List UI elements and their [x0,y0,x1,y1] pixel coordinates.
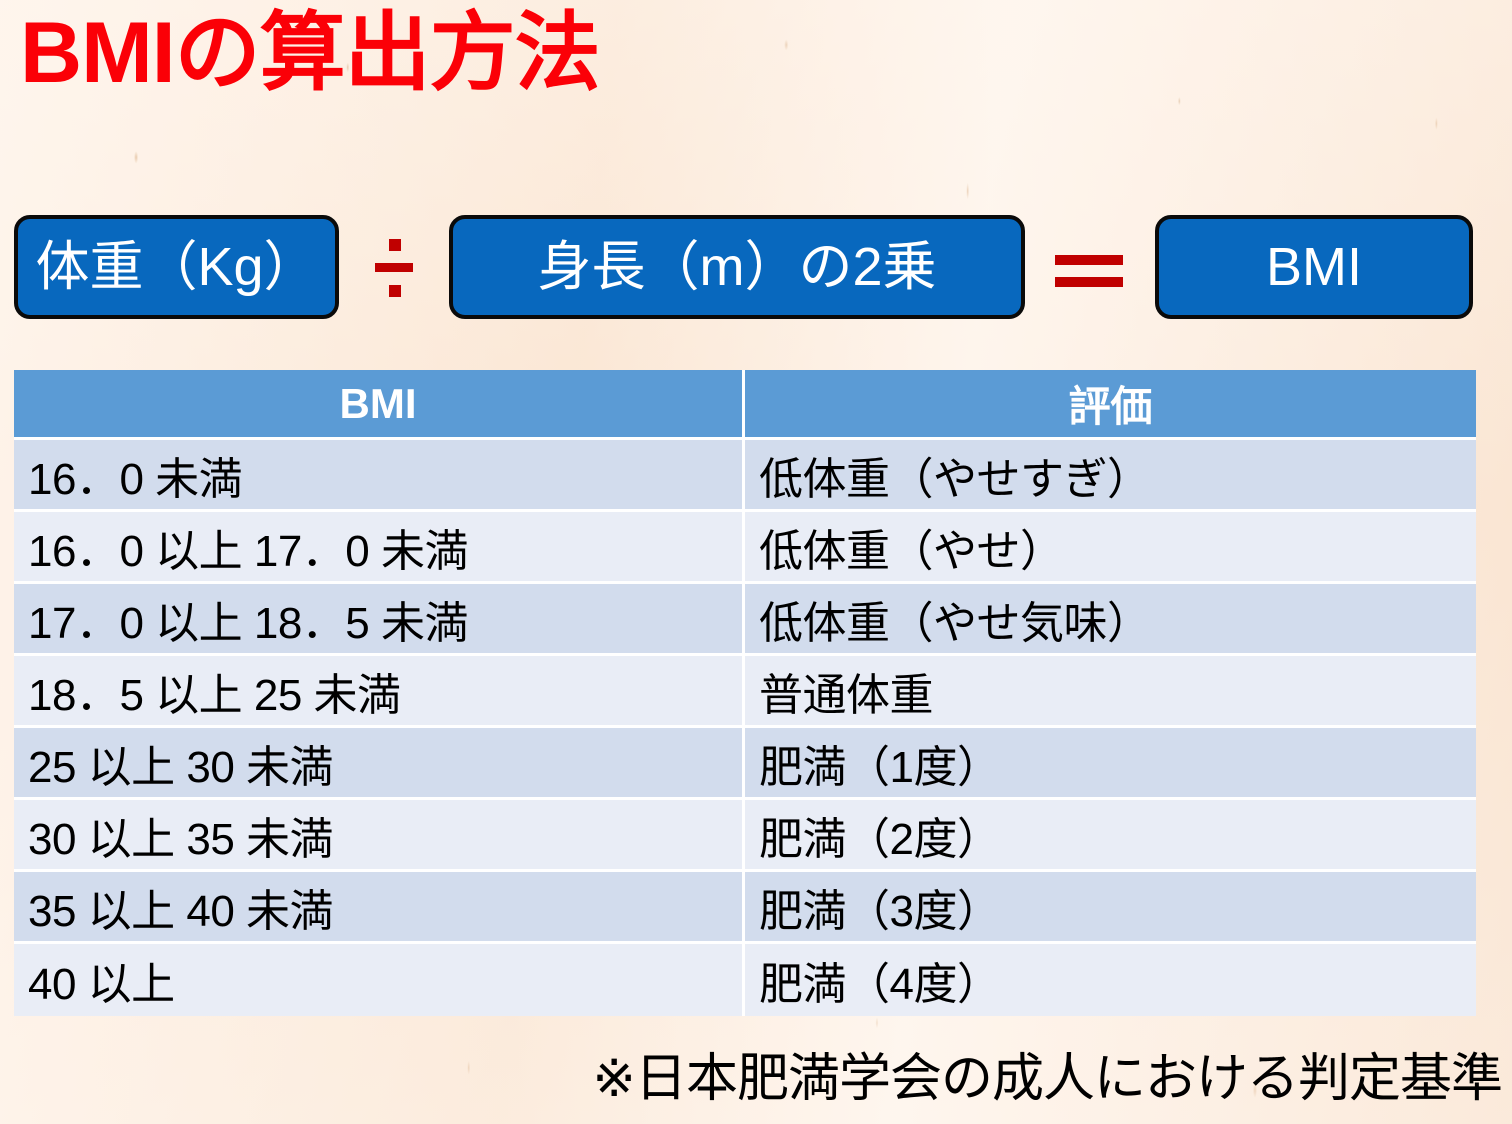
source-footnote: ※日本肥満学会の成人における判定基準 [592,1036,1502,1111]
cell-evaluation: 肥満（1度） [745,728,1476,800]
table-row: 30 以上 35 未満 肥満（2度） [14,800,1476,872]
bmi-classification-table: BMI 評価 16．0 未満 低体重（やせすぎ） 16．0 以上 17．0 未満… [14,370,1476,1016]
cell-bmi-range: 30 以上 35 未満 [14,800,745,872]
equals-operator-icon [1025,215,1155,319]
cell-evaluation: 肥満（4度） [745,944,1476,1016]
table-row: 16．0 以上 17．0 未満 低体重（やせ） [14,512,1476,584]
column-header-bmi: BMI [14,370,745,440]
cell-evaluation: 普通体重 [745,656,1476,728]
table-row: 35 以上 40 未満 肥満（3度） [14,872,1476,944]
table-row: 16．0 未満 低体重（やせすぎ） [14,440,1476,512]
bmi-formula: 体重（Kg） 身長（m）の2乗 BMI [14,211,1484,323]
cell-evaluation: 低体重（やせ） [745,512,1476,584]
cell-bmi-range: 16．0 未満 [14,440,745,512]
formula-weight-box: 体重（Kg） [14,215,339,319]
table-row: 17．0 以上 18．5 未満 低体重（やせ気味） [14,584,1476,656]
table-header-row: BMI 評価 [14,370,1476,440]
cell-bmi-range: 16．0 以上 17．0 未満 [14,512,745,584]
cell-evaluation: 低体重（やせすぎ） [745,440,1476,512]
formula-result-box: BMI [1155,215,1473,319]
cell-evaluation: 低体重（やせ気味） [745,584,1476,656]
divide-operator-icon [339,215,449,319]
cell-bmi-range: 25 以上 30 未満 [14,728,745,800]
cell-bmi-range: 17．0 以上 18．5 未満 [14,584,745,656]
table-row: 25 以上 30 未満 肥満（1度） [14,728,1476,800]
cell-evaluation: 肥満（2度） [745,800,1476,872]
cell-bmi-range: 40 以上 [14,944,745,1016]
cell-bmi-range: 18．5 以上 25 未満 [14,656,745,728]
table-row: 40 以上 肥満（4度） [14,944,1476,1016]
column-header-eval: 評価 [745,370,1476,440]
cell-bmi-range: 35 以上 40 未満 [14,872,745,944]
table-row: 18．5 以上 25 未満 普通体重 [14,656,1476,728]
formula-height-box: 身長（m）の2乗 [449,215,1025,319]
cell-evaluation: 肥満（3度） [745,872,1476,944]
page-title: BMIの算出方法 [20,4,600,103]
